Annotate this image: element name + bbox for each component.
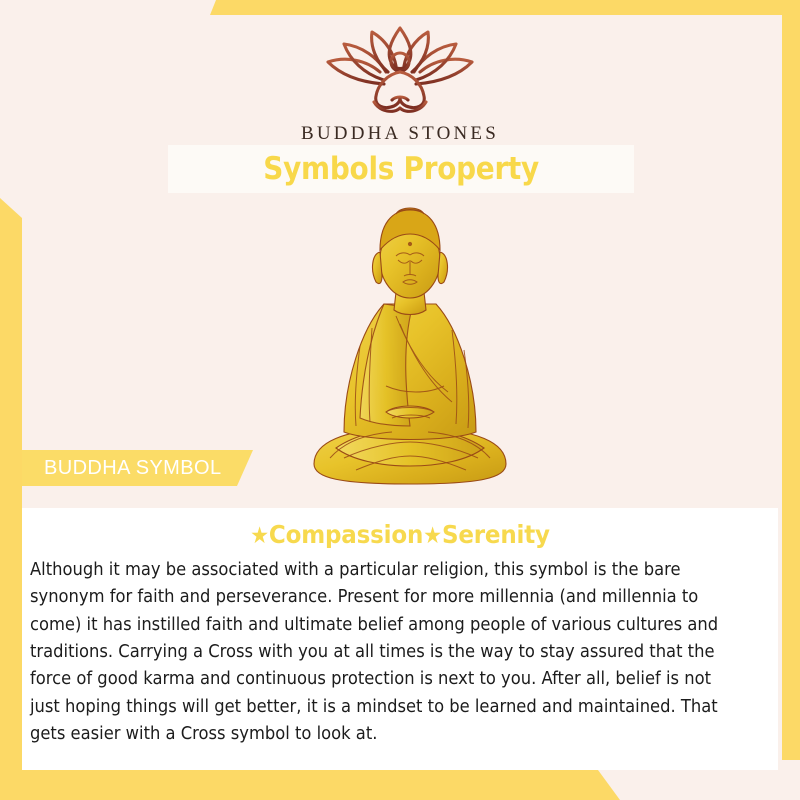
seated-buddha-statue <box>300 196 520 488</box>
lotus-meditation-icon <box>0 22 800 119</box>
content-card: ★Compassion★Serenity Although it may be … <box>22 508 778 770</box>
decorative-bottom-border <box>0 770 620 800</box>
attributes-headline: ★Compassion★Serenity <box>52 520 748 549</box>
page-title: Symbols Property <box>263 151 539 187</box>
buddha-symbol-label: BUDDHA SYMBOL <box>22 457 221 480</box>
decorative-top-border <box>210 0 800 15</box>
decorative-corner-mask <box>782 760 800 800</box>
description-paragraph: Although it may be associated with a par… <box>30 557 726 748</box>
brand-wordmark: BUDDHA STONES <box>0 123 800 145</box>
brand-logo: BUDDHA STONES <box>0 22 800 145</box>
buddha-symbol-ribbon: BUDDHA SYMBOL <box>22 450 253 486</box>
attribute-serenity: Serenity <box>442 520 550 549</box>
title-banner: Symbols Property <box>168 145 634 193</box>
decorative-left-border <box>0 198 22 800</box>
star-icon-one: ★ <box>250 523 269 549</box>
attribute-compassion: Compassion <box>269 520 423 549</box>
poster-root: BUDDHA STONES Symbols Property <box>0 0 800 800</box>
star-icon-two: ★ <box>423 523 442 549</box>
